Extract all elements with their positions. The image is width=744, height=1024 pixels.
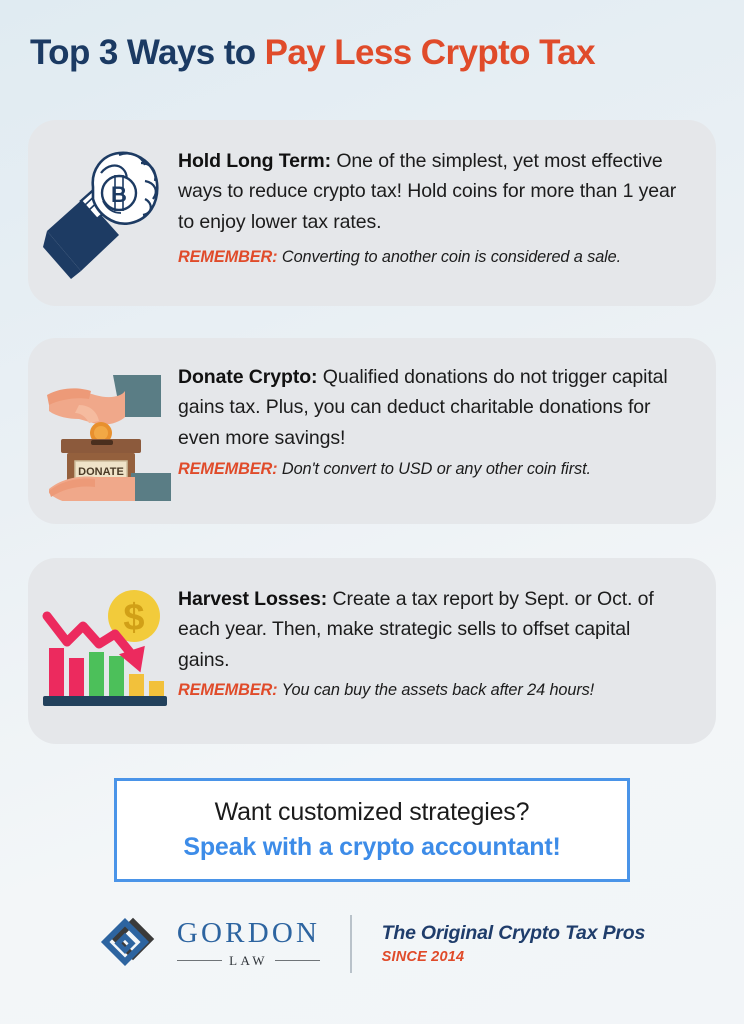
tip-card-text: Hold Long Term: One of the simplest, yet… — [178, 146, 682, 237]
footer-since: SINCE 2014 — [382, 949, 645, 965]
wordmark-law-row: LAW — [177, 953, 320, 969]
remember-text: Converting to another coin is considered… — [278, 248, 622, 266]
brand-lockup: GORDON LAW — [99, 912, 350, 975]
page-header: Top 3 Ways to Pay Less Crypto Tax — [0, 0, 744, 73]
svg-text:B: B — [111, 182, 127, 207]
cta-link[interactable]: Speak with a crypto accountant! — [183, 833, 560, 862]
wordmark-rule-right — [275, 960, 320, 962]
footer: GORDON LAW The Original Crypto Tax Pros … — [0, 912, 744, 975]
cta-box[interactable]: Want customized strategies? Speak with a… — [114, 778, 630, 882]
remember-label: REMEMBER: — [178, 460, 278, 478]
tip-card-remember: REMEMBER: Don't convert to USD or any ot… — [178, 460, 682, 479]
tip-card-body: Hold Long Term: One of the simplest, yet… — [178, 120, 716, 267]
gordon-law-diamond-logo-icon — [99, 912, 163, 975]
page-title-accent-part: Pay Less Crypto Tax — [265, 33, 595, 72]
tip-card-remember: REMEMBER: Converting to another coin is … — [178, 248, 682, 267]
remember-text: Don't convert to USD or any other coin f… — [278, 460, 591, 478]
tip-card-lead: Harvest Losses: — [178, 588, 327, 610]
gordon-law-wordmark: GORDON LAW — [177, 919, 320, 969]
tip-card-remember: REMEMBER: You can buy the assets back af… — [178, 681, 682, 700]
tip-card-body: Donate Crypto: Qualified donations do no… — [178, 338, 716, 479]
page-title-dark-part: Top 3 Ways to — [30, 33, 265, 72]
footer-tagline-block: The Original Crypto Tax Pros SINCE 2014 — [352, 922, 645, 965]
tip-card-hold-long-term: B Hold Long Term: One of the simplest, y… — [28, 120, 716, 306]
tip-card-body: Harvest Losses: Create a tax report by S… — [178, 558, 716, 700]
remember-text: You can buy the assets back after 24 hou… — [278, 681, 595, 699]
svg-text:$: $ — [123, 597, 144, 639]
tip-card-text: Harvest Losses: Create a tax report by S… — [178, 584, 682, 675]
hands-donation-box-icon: DONATE — [28, 338, 178, 524]
wordmark-gordon: GORDON — [177, 919, 320, 948]
declining-bar-chart-dollar-icon: $ — [28, 558, 178, 744]
donate-box-label: DONATE — [78, 466, 124, 478]
tip-card-text: Donate Crypto: Qualified donations do no… — [178, 362, 682, 453]
tip-card-harvest-losses: $ Harvest Losses: Create a tax report by… — [28, 558, 716, 744]
page-title: Top 3 Ways to Pay Less Crypto Tax — [30, 34, 744, 73]
wordmark-law: LAW — [229, 953, 268, 969]
remember-label: REMEMBER: — [178, 681, 278, 699]
wordmark-rule-left — [177, 960, 222, 962]
tip-card-donate-crypto: DONATE Donate Crypto: Qualified donation… — [28, 338, 716, 524]
remember-label: REMEMBER: — [178, 248, 278, 266]
cta-question: Want customized strategies? — [215, 798, 530, 827]
hand-holding-bitcoin-icon: B — [28, 120, 178, 306]
footer-tagline: The Original Crypto Tax Pros — [382, 922, 645, 945]
tip-card-lead: Hold Long Term: — [178, 150, 331, 172]
tip-card-lead: Donate Crypto: — [178, 366, 317, 388]
